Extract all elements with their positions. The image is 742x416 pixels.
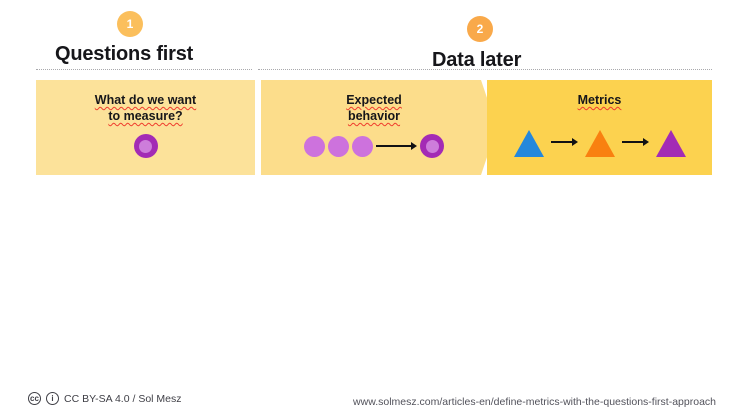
arrow-right-icon — [551, 137, 578, 147]
target-ring-icon — [420, 134, 444, 158]
license-text: CC BY-SA 4.0 / Sol Mesz — [64, 393, 182, 405]
panel-2-title: Expected behavior — [261, 92, 487, 124]
section-title-questions-first: Questions first — [55, 43, 193, 66]
target-ring-icon — [134, 134, 158, 158]
panel-3-title-line1: Metrics — [578, 92, 622, 108]
step-badge-1: 1 — [117, 11, 143, 37]
metric-triangle-blue-icon — [514, 130, 544, 157]
target-ring-inner — [139, 140, 152, 153]
behavior-dot-2-icon — [328, 136, 349, 157]
step-badge-1-label: 1 — [127, 18, 134, 30]
panel-1-title-line2: to measure? — [108, 108, 182, 124]
source-url: www.solmesz.com/articles-en/define-metri… — [353, 396, 716, 408]
process-flow-band: What do we want to measure? Expected beh… — [36, 80, 712, 175]
panel-3-title: Metrics — [487, 92, 712, 108]
attribution-icon: i — [46, 392, 59, 405]
metric-triangle-orange-icon — [585, 130, 615, 157]
panel-3-graphic — [487, 130, 712, 157]
panel-metrics: Metrics — [487, 80, 712, 175]
panel-1-title-line1: What do we want — [95, 92, 196, 108]
divider-rule-left — [36, 69, 252, 70]
step-badge-2: 2 — [467, 16, 493, 42]
arrow-head — [643, 138, 649, 146]
panel-2-title-line1: Expected — [346, 92, 402, 108]
arrow-right-icon — [622, 137, 649, 147]
behavior-dot-1-icon — [304, 136, 325, 157]
metric-triangle-purple-icon — [656, 130, 686, 157]
behavior-dot-3-icon — [352, 136, 373, 157]
divider-rule-right — [258, 69, 712, 70]
panel-expected-behavior: Expected behavior — [261, 80, 487, 175]
arrow-head — [411, 142, 417, 150]
step-badge-2-label: 2 — [477, 23, 484, 35]
panel-1-graphic — [36, 134, 255, 158]
arrow-shaft — [376, 145, 412, 147]
panel-what-do-we-want-to-measure: What do we want to measure? — [36, 80, 255, 175]
license-footer: cc i CC BY-SA 4.0 / Sol Mesz — [28, 392, 182, 405]
target-ring-inner — [426, 140, 439, 153]
arrow-right-icon — [376, 141, 417, 151]
arrow-head — [572, 138, 578, 146]
arrow-shaft — [551, 141, 573, 143]
arrow-shaft — [622, 141, 644, 143]
panel-2-graphic — [261, 134, 487, 158]
creative-commons-icon: cc — [28, 392, 41, 405]
panel-2-title-line2: behavior — [348, 108, 400, 124]
panel-1-title: What do we want to measure? — [36, 92, 255, 124]
